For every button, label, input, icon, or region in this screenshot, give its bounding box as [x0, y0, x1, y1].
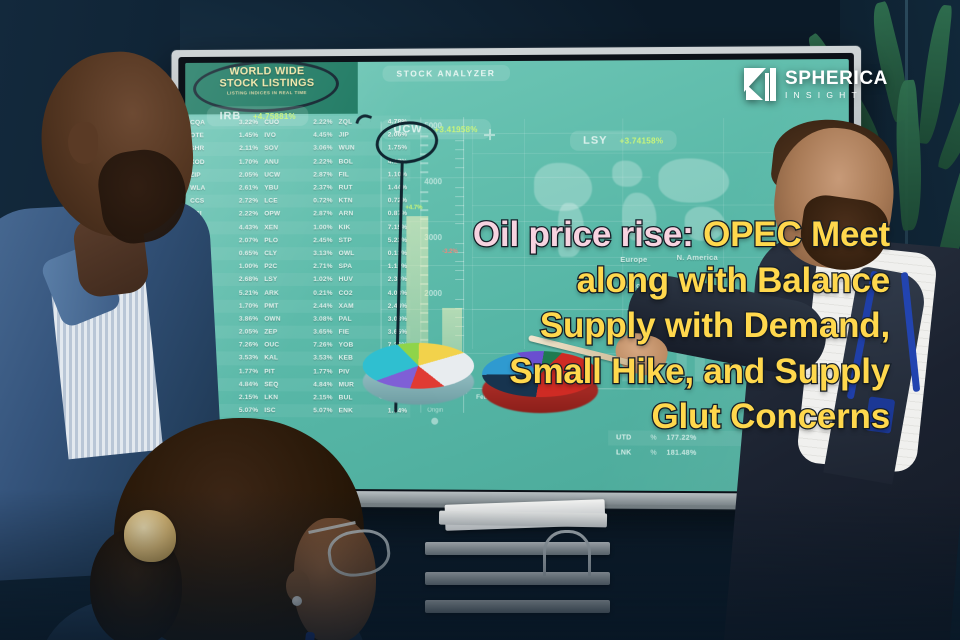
ticker-value: 3.06% — [313, 145, 332, 152]
ticker-symbol: YBU — [264, 185, 278, 192]
ticker-value: 4.45% — [313, 132, 332, 139]
ticker-symbol: ZEP — [264, 329, 277, 336]
headline-part-yellow: OPEC Meet — [694, 215, 890, 254]
ticker-value: 2.72% — [239, 198, 258, 205]
ticker-value: 4.43% — [239, 224, 258, 231]
stock-analyzer-title: STOCK ANALYZER — [383, 65, 510, 82]
ticker-value: 1.77% — [239, 368, 258, 375]
ticker-value: 2.22% — [313, 119, 332, 126]
ticker-value: 2.61% — [239, 185, 258, 192]
ticker-value: 2.11% — [239, 145, 258, 152]
ticker-symbol: RUT — [339, 184, 353, 191]
ticker-value: 1.70% — [239, 158, 258, 165]
ticker-symbol: OUC — [264, 342, 279, 349]
ticker-row[interactable]: UCW2.87% — [261, 168, 335, 181]
ticker-value: 2.87% — [313, 171, 332, 178]
ticker-row[interactable]: ANU2.22% — [261, 155, 335, 168]
ticker-row[interactable]: IVO4.45% — [261, 129, 335, 142]
ticker-value: 0.65% — [239, 250, 258, 257]
ticker-symbol: FIL — [339, 171, 349, 178]
headline-line-5: Glut Concerns — [300, 394, 890, 440]
ticker-symbol: JIP — [339, 132, 349, 139]
ticker-symbol: CLY — [264, 250, 277, 257]
ticker-symbol: PIT — [264, 368, 275, 375]
ticker-value: 7.26% — [239, 342, 258, 349]
ticker-symbol: IVO — [264, 132, 276, 139]
ticker-row[interactable]: SOV3.06% — [261, 142, 335, 155]
ticker-value: 2.05% — [239, 329, 258, 336]
ticker-value: 3.53% — [239, 355, 258, 362]
ticker-symbol: PMT — [264, 303, 278, 310]
ticker-symbol: ARK — [264, 289, 279, 296]
ticker-symbol: OWN — [264, 316, 280, 323]
headline-line-1: Oil price rise: OPEC Meet — [300, 212, 890, 258]
ticker-value: 1.70% — [239, 303, 258, 310]
brand-tagline: INSIGHT — [785, 91, 888, 100]
ticker-symbol: LCE — [264, 198, 278, 205]
brand-name: SPHERICA — [785, 69, 888, 88]
ticker-symbol: OPW — [264, 211, 280, 218]
ticker-value: 2.37% — [313, 184, 332, 191]
ticker-value: 2.22% — [239, 211, 258, 218]
ticker-symbol: ANU — [264, 158, 279, 165]
ticker-symbol: XEN — [264, 224, 278, 231]
screenshot-stage: WORLD WIDE STOCK LISTINGS LISTING INDICE… — [0, 0, 960, 640]
bar-label-jan: +4.7% — [405, 205, 422, 211]
ticker-value: 5.21% — [239, 289, 258, 296]
headline: Oil price rise: OPEC Meet along with Bal… — [300, 212, 890, 440]
ticker-symbol: LSY — [264, 276, 277, 283]
ticker-symbol: PLO — [264, 237, 278, 244]
ticker-value: 2.68% — [239, 276, 258, 283]
ticker-symbol: SOV — [264, 145, 278, 152]
left-man-ear — [68, 122, 98, 164]
table-cell-value: 181.48% — [667, 450, 721, 457]
brand-logo: SPHERICA INSIGHT — [744, 68, 888, 101]
ticker-value: 1.45% — [239, 132, 258, 139]
ticker-value: 2.05% — [239, 172, 258, 179]
ticker-value: 0.72% — [313, 198, 332, 205]
ticker-row[interactable]: LCE0.72% — [261, 195, 335, 208]
ticker-symbol: BOL — [339, 158, 353, 165]
table-cell-symbol: LNK — [608, 449, 650, 456]
chip-irb-value: +4.75881% — [253, 111, 296, 120]
ticker-value: 1.00% — [239, 263, 258, 270]
table-cell-unit: % — [650, 450, 666, 457]
ticker-symbol: ZQL — [339, 119, 353, 126]
ticker-value: 4.84% — [239, 381, 258, 388]
brand-logo-text: SPHERICA INSIGHT — [785, 69, 888, 100]
ticker-value: 2.07% — [239, 237, 258, 244]
ticker-value: 3.86% — [239, 316, 258, 323]
foreground-vignette — [0, 490, 960, 640]
ticker-symbol: KTN — [339, 198, 353, 205]
headline-line-2: along with Balance — [300, 258, 890, 304]
ticker-symbol: P2C — [264, 263, 277, 270]
ticker-symbol: UCW — [264, 172, 280, 179]
ticker-symbol: SEQ — [264, 381, 278, 388]
spherica-mark-icon — [744, 68, 776, 101]
ticker-symbol: WUN — [339, 145, 355, 152]
headline-line-3: Supply with Demand, — [300, 303, 890, 349]
ticker-row[interactable]: YBU2.37% — [261, 181, 335, 194]
headline-line-4: Small Hike, and Supply — [300, 349, 890, 395]
headline-part-pink: Oil price rise: — [473, 215, 694, 254]
ticker-value: 2.22% — [313, 158, 332, 165]
ticker-symbol: KAL — [264, 355, 278, 362]
